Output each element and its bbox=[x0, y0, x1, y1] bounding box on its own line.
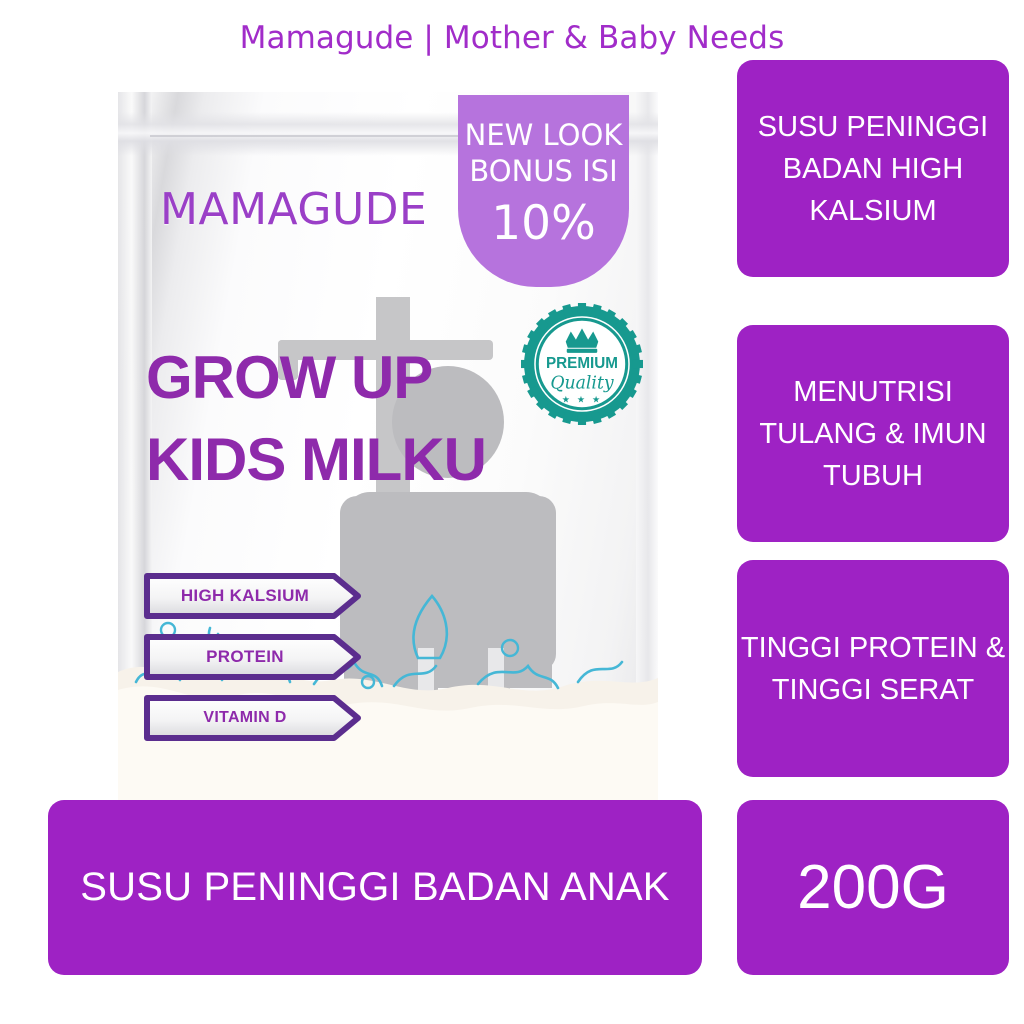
promo-percent: 10% bbox=[458, 193, 629, 255]
bottom-headline-banner: SUSU PENINGGI BADAN ANAK bbox=[48, 800, 702, 975]
feature-box-protein-serat: TINGGI PROTEIN & TINGGI SERAT bbox=[737, 560, 1009, 777]
seal-quality-text: Quality bbox=[550, 373, 614, 393]
feature-ribbon-vitamin-d: VITAMIN D bbox=[144, 694, 364, 742]
bottom-weight-banner: 200G bbox=[737, 800, 1009, 975]
feature-ribbon-high-kalsium: HIGH KALSIUM bbox=[144, 572, 364, 620]
promo-line-1: NEW LOOK bbox=[458, 117, 629, 153]
ribbon-label: PROTEIN bbox=[144, 647, 364, 667]
page-title: Mamagude | Mother & Baby Needs bbox=[0, 20, 1024, 56]
promo-line-2: BONUS ISI bbox=[458, 153, 629, 189]
feature-box-text: MENUTRISI TULANG & IMUN TUBUH bbox=[737, 371, 1009, 497]
premium-quality-seal: PREMIUM Quality ★ ★ ★ bbox=[521, 303, 643, 425]
package-brand-name: MAMAGUDE bbox=[160, 184, 427, 235]
feature-box-text: TINGGI PROTEIN & TINGGI SERAT bbox=[737, 627, 1009, 711]
product-title-line-2: KIDS MILKU bbox=[146, 419, 616, 501]
feature-ribbon-protein: PROTEIN bbox=[144, 633, 364, 681]
feature-box-tulang-imun: MENUTRISI TULANG & IMUN TUBUH bbox=[737, 325, 1009, 542]
product-package: MAMAGUDE NEW LOOK BONUS ISI 10% GROW UP … bbox=[118, 92, 658, 832]
ribbon-label: VITAMIN D bbox=[144, 709, 364, 727]
bottom-headline-text: SUSU PENINGGI BADAN ANAK bbox=[80, 865, 669, 910]
feature-box-high-kalsium: SUSU PENINGGI BADAN HIGH KALSIUM bbox=[737, 60, 1009, 277]
ribbon-label: HIGH KALSIUM bbox=[144, 586, 364, 606]
promo-badge: NEW LOOK BONUS ISI 10% bbox=[458, 95, 629, 287]
product-marketing-image: Mamagude | Mother & Baby Needs bbox=[0, 0, 1024, 1024]
seal-stars: ★ ★ ★ bbox=[562, 396, 603, 406]
crown-icon bbox=[566, 328, 599, 352]
weight-text: 200G bbox=[797, 852, 949, 923]
seal-premium-text: PREMIUM bbox=[546, 355, 618, 372]
package-feature-ribbons: HIGH KALSIUM PROTEIN VITAMIN D bbox=[144, 572, 364, 755]
feature-box-text: SUSU PENINGGI BADAN HIGH KALSIUM bbox=[737, 106, 1009, 232]
